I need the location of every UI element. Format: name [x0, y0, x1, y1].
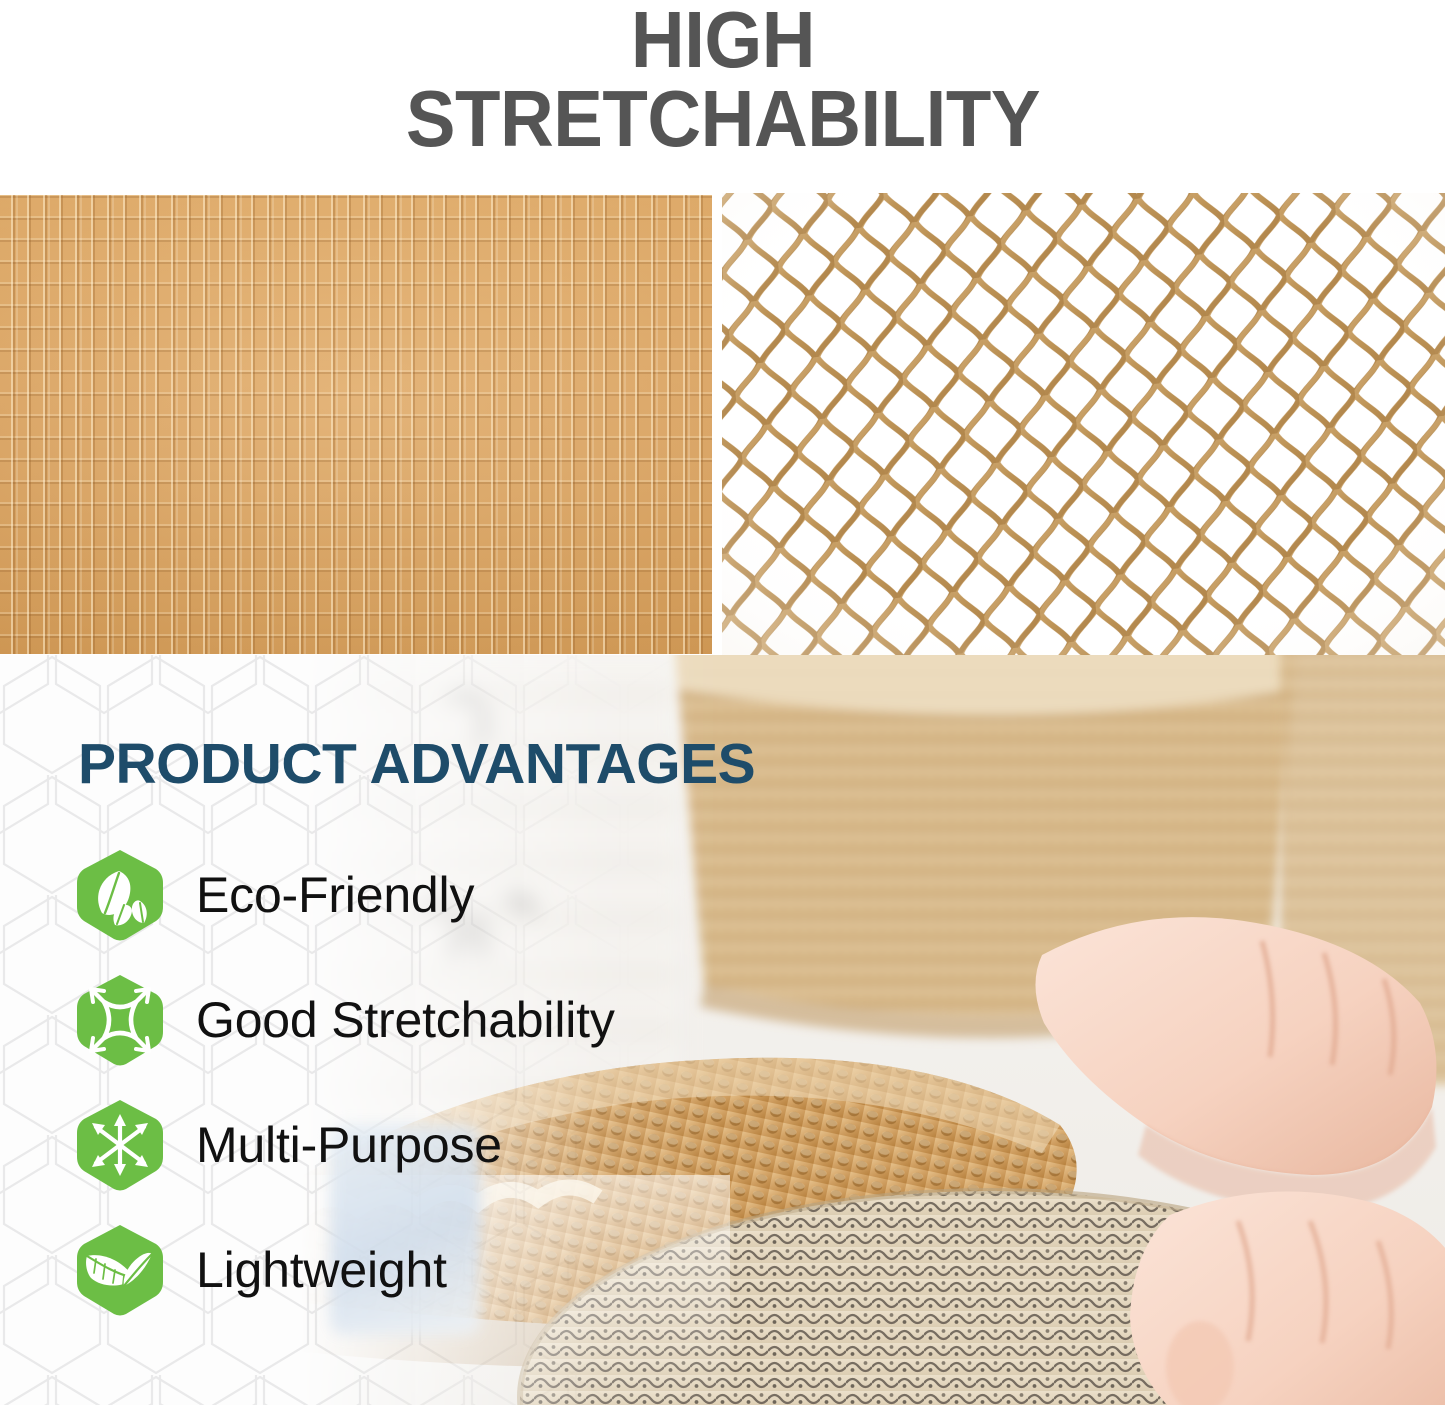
advantages-list: Eco-Friendly: [74, 832, 834, 1332]
advantage-item-eco-friendly: Eco-Friendly: [74, 832, 834, 957]
comparison-image-strip: [0, 193, 1445, 655]
feather-icon: [74, 1222, 166, 1318]
advantage-item-good-stretchability: Good Stretchability: [74, 957, 834, 1082]
advantage-label: Good Stretchability: [196, 995, 615, 1045]
advantage-label: Multi-Purpose: [196, 1120, 502, 1170]
page-title-line-1: HIGH: [630, 2, 814, 79]
advantage-item-lightweight: Lightweight: [74, 1207, 834, 1332]
page-title-line-2: STRETCHABILITY: [405, 81, 1039, 158]
infographic-page: HIGH STRETCHABILITY: [0, 0, 1445, 1405]
header-title-block: HIGH STRETCHABILITY: [0, 0, 1445, 193]
advantage-label: Lightweight: [196, 1245, 447, 1295]
advantage-item-multi-purpose: Multi-Purpose: [74, 1082, 834, 1207]
honeycomb-mesh-pattern: [722, 193, 1445, 655]
stretched-honeycomb-mesh-image: [722, 193, 1445, 655]
leaf-icon: [74, 847, 166, 943]
product-advantages-heading: PRODUCT ADVANTAGES: [78, 731, 755, 797]
unstretched-honeycomb-paper-image: [0, 195, 712, 654]
advantage-label: Eco-Friendly: [196, 870, 474, 920]
stretch-arrows-icon: [74, 972, 166, 1068]
multi-direction-arrows-icon: [74, 1097, 166, 1193]
